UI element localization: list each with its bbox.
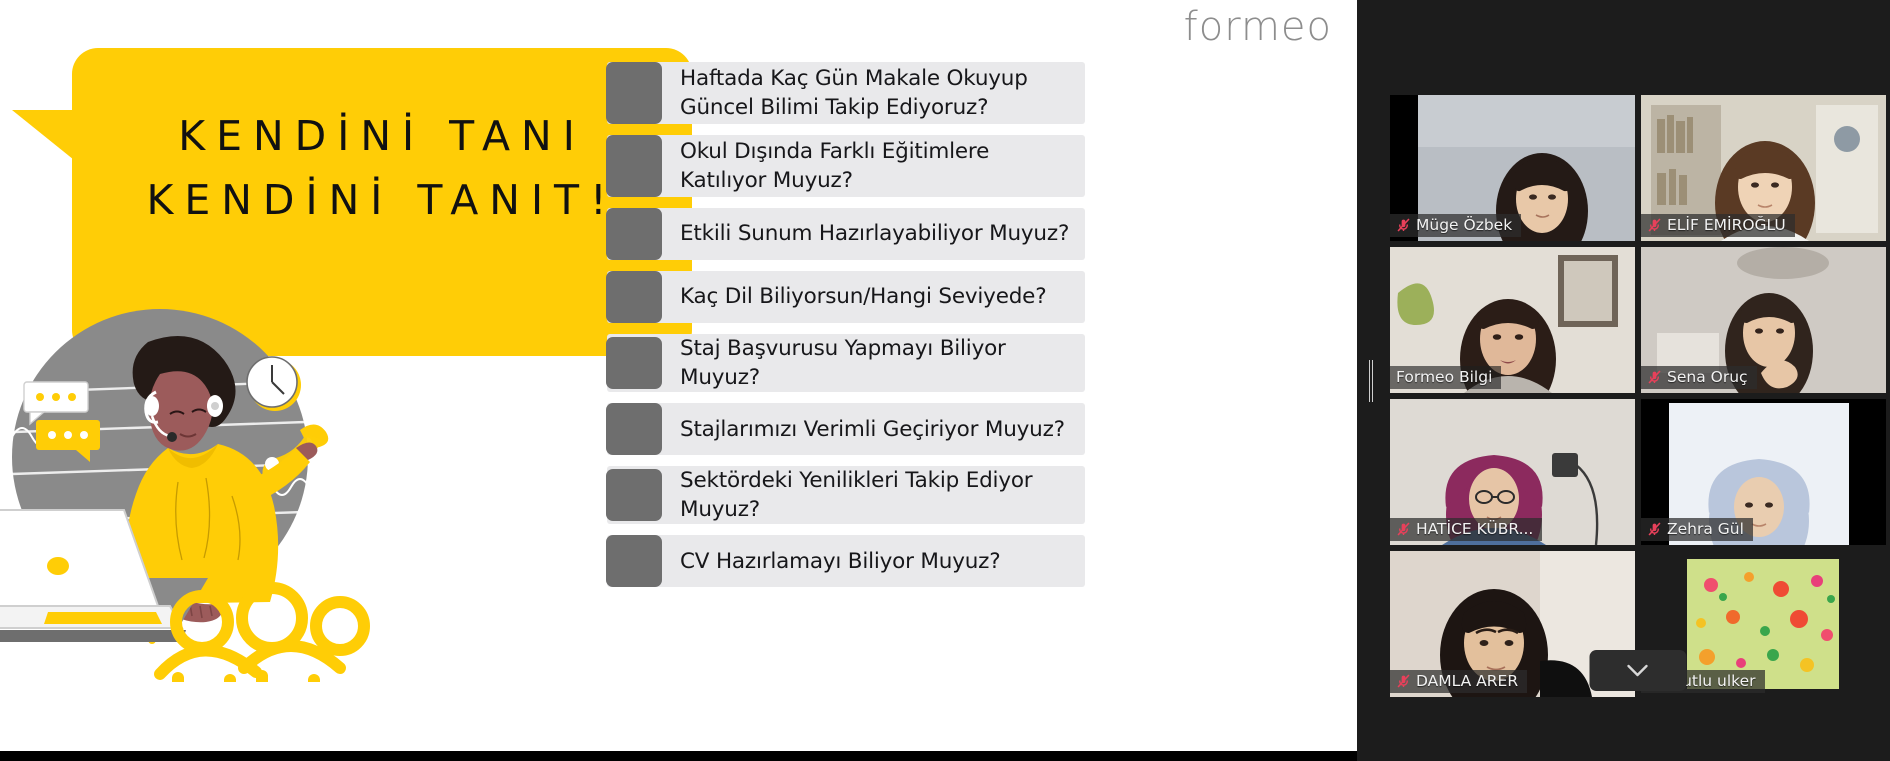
participant-tile-active-speaker[interactable]: Formeo Bilgi [1390,247,1635,393]
participant-name: HATİCE KÜBR... [1416,520,1533,538]
participant-name: Zehra Gül [1667,520,1744,538]
question-row: Okul Dışında Farklı Eğitimlere Katılıyor… [607,135,1085,197]
woman-with-headset-at-laptop-illustration [0,282,400,682]
tile-row: Formeo Bilgi [1390,247,1887,393]
question-text: Sektördeki Yenilikleri Takip Ediyor Muyu… [662,466,1085,524]
participant-namebar: DAMLA ARER [1390,670,1527,693]
question-text: Staj Başvurusu Yapmayı Biliyor Muyuz? [662,334,1085,392]
question-text: Kaç Dil Biliyorsun/Hangi Seviyede? [662,282,1058,311]
bullet-square-icon [606,469,662,521]
shared-slide[interactable]: formeo KENDİNİ TANI KENDİNİ TANIT! [0,0,1357,751]
bullet-square-icon [606,403,662,455]
participant-name: DAMLA ARER [1416,672,1518,690]
bullet-square-icon [606,208,662,260]
slide-title: KENDİNİ TANI KENDİNİ TANIT! [72,105,692,232]
participant-tile[interactable]: Zehra Gül [1641,399,1886,545]
mic-muted-icon [1396,217,1411,233]
bullet-square-icon [606,62,662,124]
participant-name: Müge Özbek [1416,216,1512,234]
mic-muted-icon [1396,521,1411,537]
question-row: Haftada Kaç Gün Makale Okuyup Güncel Bil… [607,62,1085,124]
bullet-square-icon [606,535,662,587]
participant-namebar: Formeo Bilgi [1390,366,1501,389]
question-row: Sektördeki Yenilikleri Takip Ediyor Muyu… [607,466,1085,524]
participant-tile-grid: Müge Özbek [1390,95,1887,703]
tile-row: HATİCE KÜBR... [1390,399,1887,545]
question-text: Okul Dışında Farklı Eğitimlere Katılıyor… [662,137,1085,195]
mic-muted-icon [1647,521,1662,537]
panel-divider [1357,0,1385,761]
participant-name: ELİF EMİROĞLU [1667,216,1786,234]
participant-tile[interactable]: Sena Oruç [1641,247,1886,393]
participant-gallery: Müge Özbek [1385,0,1890,761]
formeo-logo: formeo [1184,4,1332,50]
participant-tile[interactable]: Müge Özbek [1390,95,1635,241]
mic-muted-icon [1647,217,1662,233]
question-row: CV Hazırlamayı Biliyor Muyuz? [607,535,1085,587]
question-text: CV Hazırlamayı Biliyor Muyuz? [662,547,1012,576]
panel-resize-handle[interactable] [1368,360,1374,402]
meeting-screen: formeo KENDİNİ TANI KENDİNİ TANIT! [0,0,1890,761]
participant-namebar: Sena Oruç [1641,366,1757,389]
question-text: Haftada Kaç Gün Makale Okuyup Güncel Bil… [662,64,1085,122]
mic-muted-icon [1396,673,1411,689]
chevron-down-icon [1627,664,1649,677]
participant-namebar: ELİF EMİROĞLU [1641,214,1795,237]
bullet-square-icon [606,271,662,323]
question-row: Kaç Dil Biliyorsun/Hangi Seviyede? [607,271,1085,323]
participant-tile[interactable]: HATİCE KÜBR... [1390,399,1635,545]
bullet-square-icon [606,337,662,389]
tile-row: Müge Özbek [1390,95,1887,241]
mic-muted-icon [1647,369,1662,385]
participant-tile[interactable]: ELİF EMİROĞLU [1641,95,1886,241]
question-row: Etkili Sunum Hazırlayabiliyor Muyuz? [607,208,1085,260]
slide-bottom-border [0,751,1357,761]
question-row: Stajlarımızı Verimli Geçiriyor Muyuz? [607,403,1085,455]
question-text: Stajlarımızı Verimli Geçiriyor Muyuz? [662,415,1077,444]
participant-name: Sena Oruç [1667,368,1748,386]
participant-namebar: HATİCE KÜBR... [1390,518,1542,541]
participant-namebar: Müge Özbek [1390,214,1521,237]
question-list: Haftada Kaç Gün Makale Okuyup Güncel Bil… [607,62,1085,598]
question-row: Staj Başvurusu Yapmayı Biliyor Muyuz? [607,334,1085,392]
question-text: Etkili Sunum Hazırlayabiliyor Muyuz? [662,219,1081,248]
participant-name: Formeo Bilgi [1396,368,1492,386]
show-more-participants-button[interactable] [1589,650,1686,691]
bullet-square-icon [606,135,662,197]
participant-namebar: Zehra Gül [1641,518,1753,541]
